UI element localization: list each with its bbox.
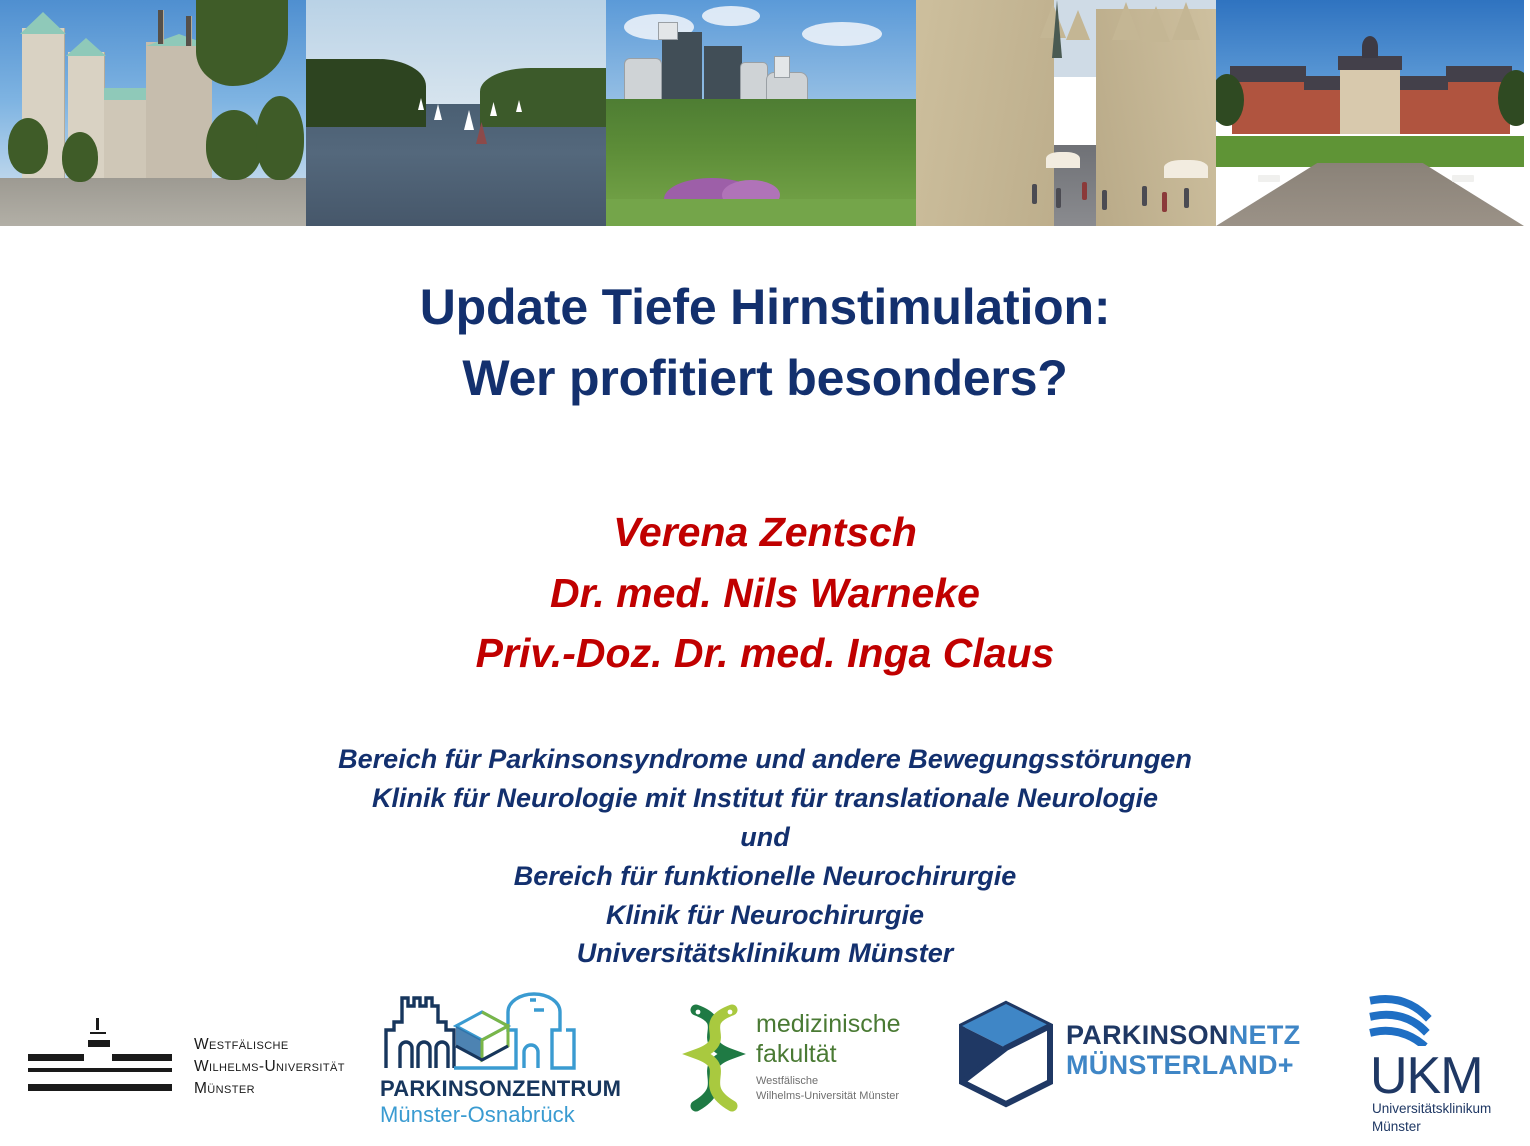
wwu-line-2: Wilhelms-Universität <box>194 1056 345 1078</box>
mf-line-2: fakultät <box>756 1040 901 1070</box>
parkinsonnetz-word-2: NETZ <box>1229 1020 1301 1050</box>
author-list: Verena Zentsch Dr. med. Nils Warneke Pri… <box>0 502 1530 684</box>
parkinsonzentrum-emblem-icon <box>378 986 598 1070</box>
affiliation-line-4: Bereich für funktionelle Neurochirurgie <box>0 857 1530 896</box>
schloss-muenster-photo <box>1216 0 1524 226</box>
affiliation-line-3: und <box>0 818 1530 857</box>
title-line-1: Update Tiefe Hirnstimulation: <box>0 272 1530 343</box>
affiliation-line-2: Klinik für Neurologie mit Institut für t… <box>0 779 1530 818</box>
presentation-title-slide: Update Tiefe Hirnstimulation: Wer profit… <box>0 0 1530 1146</box>
slide-title: Update Tiefe Hirnstimulation: Wer profit… <box>0 272 1530 414</box>
aasee-lake-photo <box>306 0 606 226</box>
ukm-arcs-icon <box>1368 990 1442 1046</box>
title-line-2: Wer profitiert besonders? <box>0 343 1530 414</box>
double-snake-icon <box>676 1002 752 1114</box>
parkinsonzentrum-name: PARKINSONZENTRUM <box>380 1076 621 1102</box>
affiliation-line-6: Universitätsklinikum Münster <box>0 934 1530 973</box>
ukm-sub-2: Münster <box>1372 1118 1491 1136</box>
affiliation-line-5: Klinik für Neurochirurgie <box>0 896 1530 935</box>
wwu-line-3: Münster <box>194 1078 345 1100</box>
ukm-sub-1: Universitätsklinikum <box>1372 1100 1491 1118</box>
author-2: Dr. med. Nils Warneke <box>0 563 1530 624</box>
header-image-band <box>0 0 1530 226</box>
parkinsonnetz-cube-icon <box>956 998 1056 1110</box>
medizinische-fakultaet-logo: medizinische fakultät Westfälische Wilhe… <box>672 998 932 1118</box>
affiliation-block: Bereich für Parkinsonsyndrome und andere… <box>0 740 1530 973</box>
affiliation-line-1: Bereich für Parkinsonsyndrome und andere… <box>0 740 1530 779</box>
parkinsonzentrum-logo: PARKINSONZENTRUM Münster-Osnabrück <box>378 986 598 1136</box>
author-3: Priv.-Doz. Dr. med. Inga Claus <box>0 623 1530 684</box>
parkinsonzentrum-location: Münster-Osnabrück <box>380 1102 575 1128</box>
ukm-subtitle: Universitätsklinikum Münster <box>1372 1100 1491 1135</box>
hospital-towers-park-photo <box>606 0 916 226</box>
medizinische-fakultaet-subtitle: Westfälische Wilhelms-Universität Münste… <box>756 1074 899 1103</box>
mf-sub-2: Wilhelms-Universität Münster <box>756 1089 899 1104</box>
parkinsonnetz-line-2: MÜNSTERLAND+ <box>1066 1050 1300 1080</box>
ukm-logo: UKM Universitätsklinikum Münster <box>1358 988 1508 1136</box>
wwu-emblem-icon <box>22 1016 182 1096</box>
wwu-logo-text: Westfälische Wilhelms-Universität Münste… <box>194 1034 345 1100</box>
parkinsonnetz-word-1: PARKINSON <box>1066 1020 1229 1050</box>
mf-line-1: medizinische <box>756 1010 901 1040</box>
parkinsonnetz-logo: PARKINSONNETZ MÜNSTERLAND+ <box>956 998 1306 1114</box>
prinzipalmarkt-photo <box>916 0 1216 226</box>
author-1: Verena Zentsch <box>0 502 1530 563</box>
ukm-acronym: UKM <box>1370 1046 1483 1106</box>
wwu-logo: Westfälische Wilhelms-Universität Münste… <box>22 1016 352 1102</box>
logo-row: Westfälische Wilhelms-Universität Münste… <box>0 980 1530 1146</box>
wwu-line-1: Westfälische <box>194 1034 345 1056</box>
parkinsonnetz-wordmark: PARKINSONNETZ MÜNSTERLAND+ <box>1066 1020 1300 1080</box>
medizinische-fakultaet-name: medizinische fakultät <box>756 1010 901 1069</box>
mf-sub-1: Westfälische <box>756 1074 899 1089</box>
muenster-cathedral-photo <box>0 0 306 226</box>
